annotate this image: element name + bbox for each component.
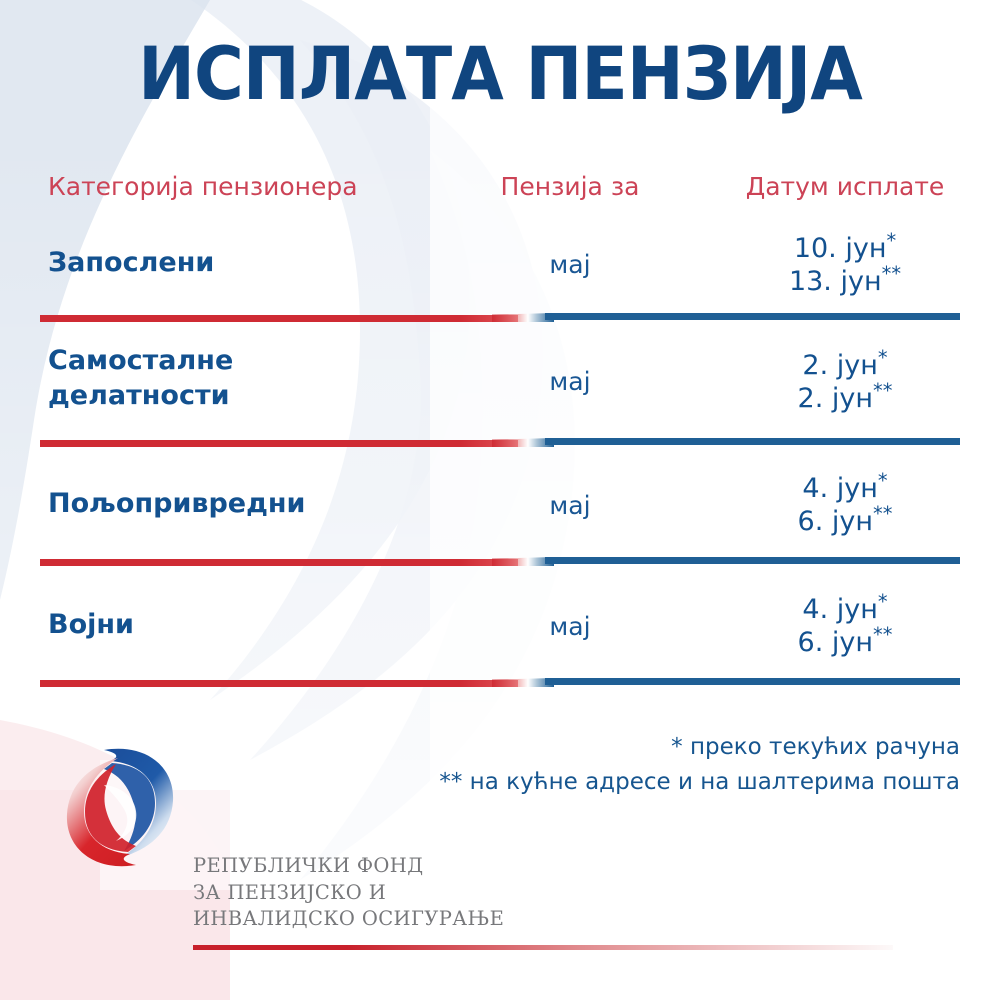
date-secondary-marker: ** xyxy=(873,379,892,402)
date-secondary: 6. јун xyxy=(798,506,873,537)
cell-category: Војни xyxy=(48,608,134,643)
date-primary-marker: * xyxy=(886,229,896,252)
cell-payout-date: 2. јун* 2. јун** xyxy=(730,350,960,416)
header-category: Категорија пензионера xyxy=(48,172,358,201)
row-separator xyxy=(40,438,960,447)
separator-blue-segment xyxy=(545,678,960,685)
table-header-row: Категорија пензионера Пензија за Датум и… xyxy=(40,160,960,218)
date-secondary: 13. јун xyxy=(789,266,882,297)
cell-pension-for: мај xyxy=(485,250,655,279)
organization-name: РЕПУБЛИЧКИ ФОНД ЗА ПЕНЗИЈСКО И ИНВАЛИДСК… xyxy=(193,853,504,933)
logo-underline-rule xyxy=(193,945,893,950)
pension-payout-infographic: ИСПЛАТА ПЕНЗИЈА Категорија пензионера Пе… xyxy=(0,0,1000,1000)
row-separator xyxy=(40,678,960,687)
cell-payout-date: 4. јун* 6. јун** xyxy=(730,473,960,539)
date-secondary: 2. јун xyxy=(798,383,873,414)
date-primary: 4. јун xyxy=(802,594,877,625)
row-separator xyxy=(40,313,960,322)
table-row: Самосталне делатности мај 2. јун* 2. јун… xyxy=(40,322,960,438)
date-primary-marker: * xyxy=(878,469,888,492)
row-separator xyxy=(40,557,960,566)
date-primary: 2. јун xyxy=(802,350,877,381)
date-secondary-marker: ** xyxy=(873,502,892,525)
date-primary: 4. јун xyxy=(802,473,877,504)
date-primary-marker: * xyxy=(878,590,888,613)
date-secondary-marker: ** xyxy=(873,623,892,646)
table-row: Запослени мај 10. јун* 13. јун** xyxy=(40,218,960,313)
cell-category: Самосталне делатности xyxy=(48,344,233,413)
date-secondary-marker: ** xyxy=(882,262,901,285)
cell-category: Запослени xyxy=(48,246,214,281)
cell-pension-for: мај xyxy=(485,612,655,641)
cell-payout-date: 4. јун* 6. јун** xyxy=(730,594,960,660)
date-primary-marker: * xyxy=(878,346,888,369)
pio-swirl-logo-icon xyxy=(60,745,180,870)
table-row: Пољопривредни мај 4. јун* 6. јун** xyxy=(40,447,960,557)
table-row: Војни мај 4. јун* 6. јун** xyxy=(40,566,960,678)
separator-red-segment xyxy=(40,440,518,447)
header-pension-for: Пензија за xyxy=(485,172,655,201)
separator-red-segment xyxy=(40,559,518,566)
separator-red-segment xyxy=(40,680,518,687)
separator-blue-segment xyxy=(545,438,960,445)
header-payout-date: Датум исплате xyxy=(730,172,960,201)
separator-blue-segment xyxy=(545,557,960,564)
date-secondary: 6. јун xyxy=(798,627,873,658)
page-title: ИСПЛАТА ПЕНЗИЈА xyxy=(35,38,965,111)
cell-payout-date: 10. јун* 13. јун** xyxy=(730,233,960,299)
separator-red-segment xyxy=(40,315,518,322)
organization-logo-block: РЕПУБЛИЧКИ ФОНД ЗА ПЕНЗИЈСКО И ИНВАЛИДСК… xyxy=(60,745,530,960)
date-primary: 10. јун xyxy=(794,233,887,264)
cell-category: Пољопривредни xyxy=(48,487,305,522)
payout-table: Категорија пензионера Пензија за Датум и… xyxy=(40,160,960,687)
cell-pension-for: мај xyxy=(485,491,655,520)
cell-pension-for: мај xyxy=(485,367,655,396)
separator-blue-segment xyxy=(545,313,960,320)
